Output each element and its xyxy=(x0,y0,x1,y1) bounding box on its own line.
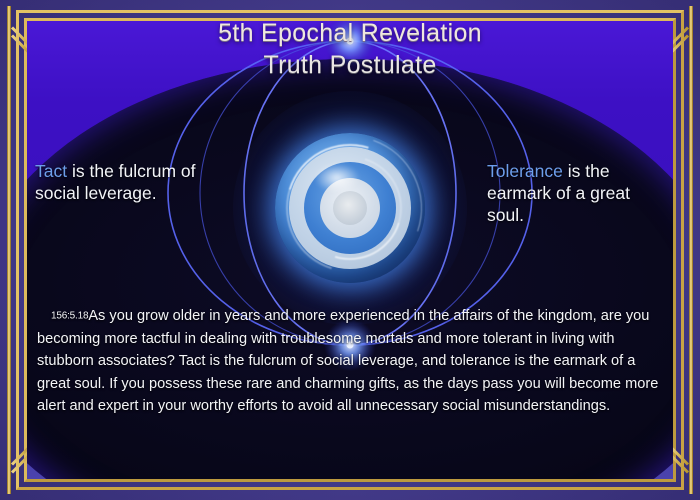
art-panel: 5th Epochal Revelation Truth Postulate T… xyxy=(27,21,673,479)
page-subtitle: Truth Postulate xyxy=(27,51,673,80)
sphere-specular-highlight xyxy=(314,163,360,193)
scripture-passage: 156:5.18As you grow older in years and m… xyxy=(37,305,661,418)
passage-reference: 156:5.18 xyxy=(51,311,88,322)
quote-right-keyword: Tolerance xyxy=(487,161,563,181)
quote-right: Tolerance is the earmark of a great soul… xyxy=(487,160,669,226)
page-title: 5th Epochal Revelation xyxy=(27,21,673,48)
quote-left: Tact is the fulcrum of social leverage. xyxy=(35,160,215,204)
passage-text: As you grow older in years and more expe… xyxy=(37,308,658,414)
glowing-sphere xyxy=(275,133,425,283)
edge-rule-left xyxy=(7,6,11,494)
revelation-card: 5th Epochal Revelation Truth Postulate T… xyxy=(0,0,700,500)
edge-rule-right xyxy=(689,6,693,494)
quote-left-keyword: Tact xyxy=(35,161,67,181)
